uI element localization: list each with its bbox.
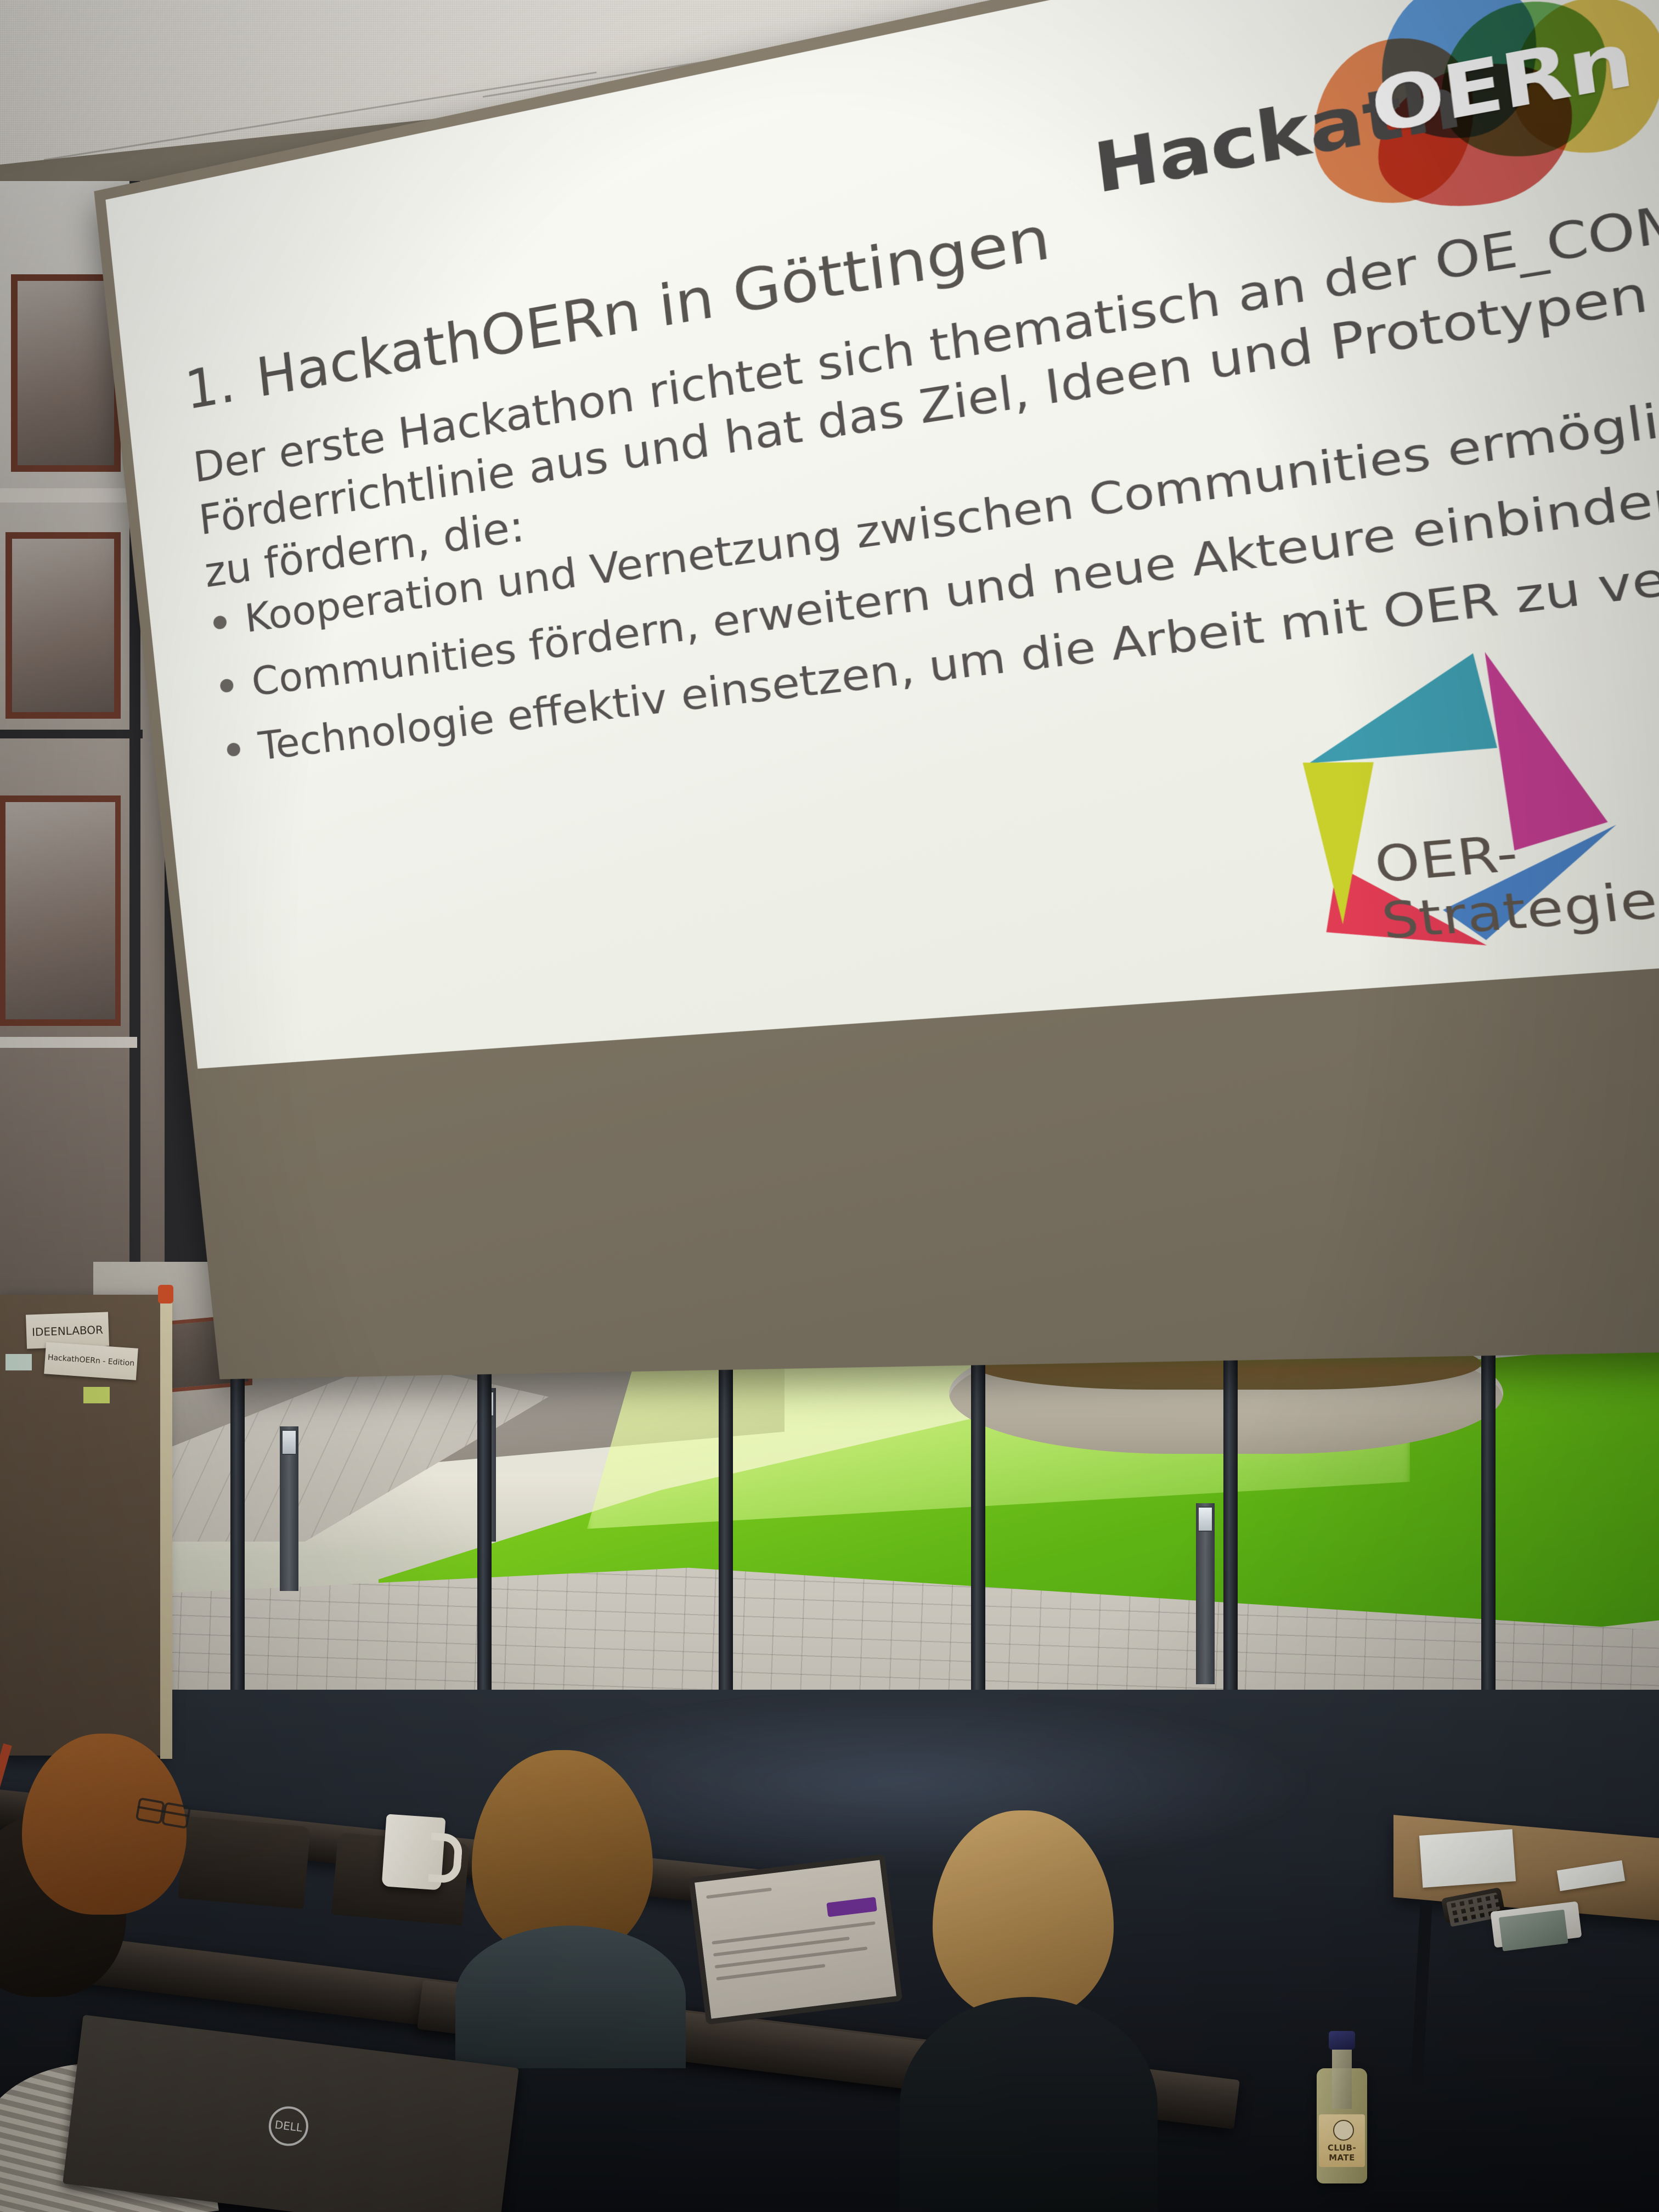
presentation-slide: Hackath OERn 1.HackathOERn in Göttingen … bbox=[105, 0, 1659, 1069]
app-badge bbox=[826, 1897, 877, 1917]
oer-strategie-logo: OER-Strategie bbox=[1221, 607, 1659, 963]
hackathoern-logo: Hackath OERn bbox=[1080, 0, 1659, 230]
bollard-light bbox=[1196, 1503, 1215, 1684]
slide-number: 1. bbox=[182, 352, 238, 422]
lecture-hall-photo: Hackath OERn 1.HackathOERn in Göttingen … bbox=[0, 0, 1659, 2212]
pinboard: IDEENLABOR HackathOERn - Edition bbox=[0, 1295, 165, 1756]
seat-back bbox=[178, 1816, 311, 1909]
bottle-cap bbox=[1329, 2031, 1355, 2050]
desk-paper bbox=[1419, 1829, 1516, 1888]
audience-shoulders bbox=[900, 1997, 1158, 2212]
pinboard-note-bottom: HackathOERn - Edition bbox=[44, 1342, 138, 1380]
projection-screen: Hackath OERn 1.HackathOERn in Göttingen … bbox=[94, 0, 1659, 1435]
audience-shoulders bbox=[455, 1926, 686, 2068]
pinboard-note-top-text: IDEENLABOR bbox=[26, 1312, 109, 1339]
sticky-note bbox=[5, 1354, 32, 1370]
macbook-laptop[interactable] bbox=[689, 1854, 902, 2025]
dell-logo-icon: DELL bbox=[267, 2104, 311, 2148]
sticky-note bbox=[83, 1387, 110, 1403]
bollard-light bbox=[280, 1426, 298, 1591]
pinboard-note-bottom-text: HackathOERn - Edition bbox=[45, 1342, 138, 1368]
club-mate-bottle: CLUB-MATE bbox=[1317, 2019, 1367, 2183]
bottle-label: CLUB-MATE bbox=[1319, 2114, 1365, 2167]
bottle-label-text: CLUB-MATE bbox=[1319, 2143, 1365, 2163]
eyeglasses bbox=[137, 1806, 189, 1818]
coffee-mug bbox=[382, 1814, 446, 1890]
